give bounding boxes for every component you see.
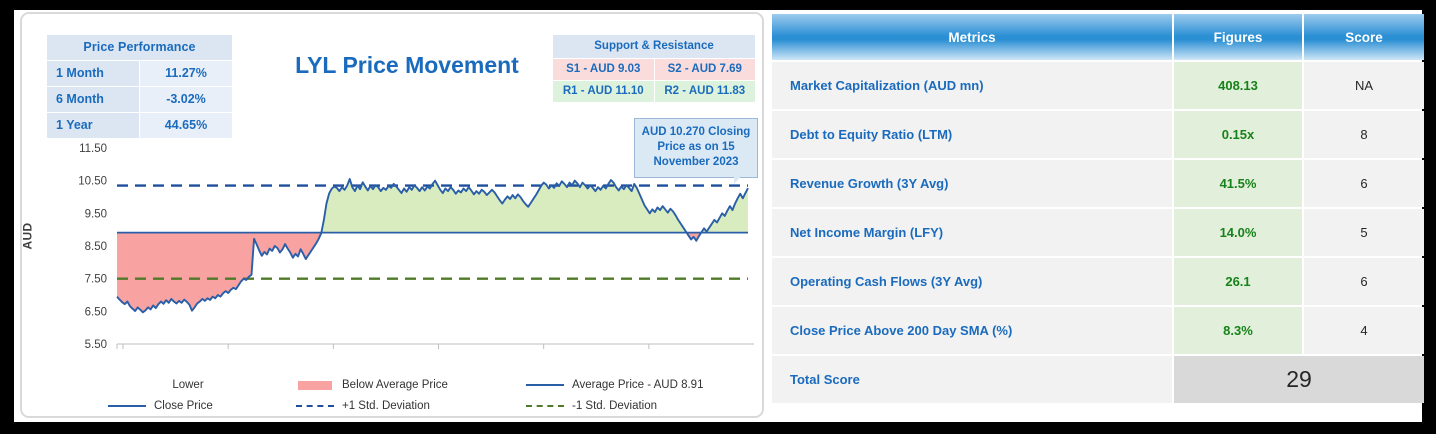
table-row: Revenue Growth (3Y Avg)41.5%6 (772, 160, 1424, 207)
y-tick-label: 9.50 (85, 208, 107, 220)
legend-item-close-price: Close Price (34, 400, 294, 412)
metric-figure-cell: 408.13 (1174, 62, 1302, 109)
metrics-table: Metrics Figures Score Market Capitalizat… (770, 12, 1426, 405)
resistance-row: R1 - AUD 11.10 R2 - AUD 11.83 (553, 81, 755, 102)
metric-score-cell: 6 (1304, 160, 1424, 207)
legend-marker-dash-blue (294, 400, 336, 412)
price-performance-row: 1 Year 44.65% (47, 113, 232, 138)
metric-figure-cell: 26.1 (1174, 258, 1302, 305)
screenshot-root: Price Performance 1 Month 11.27% 6 Month… (0, 0, 1436, 434)
legend-marker-line-blue (524, 379, 566, 391)
closing-price-callout: AUD 10.270 Closing Price as on 15 Novemb… (634, 118, 758, 178)
metric-figure-cell: 8.3% (1174, 307, 1302, 354)
y-tick-label: 6.50 (85, 306, 107, 318)
pp-label-1year: 1 Year (47, 113, 139, 138)
legend-label-plus-std-dev: +1 Std. Deviation (342, 400, 430, 412)
legend-item-average-price: Average Price - AUD 8.91 (524, 379, 703, 391)
metric-score-cell: 4 (1304, 307, 1424, 354)
support-resistance-header-row: Support & Resistance (553, 35, 755, 58)
metric-name-cell: Market Capitalization (AUD mn) (772, 62, 1172, 109)
legend-label-below-average-price: Below Average Price (342, 379, 448, 391)
metric-figure-cell: 0.15x (1174, 111, 1302, 158)
callout-tail-icon (734, 172, 745, 184)
price-performance-header: Price Performance (47, 35, 232, 60)
total-score-value: 29 (1174, 356, 1424, 403)
metric-score-cell: NA (1304, 62, 1424, 109)
metric-score-cell: 5 (1304, 209, 1424, 256)
legend-label-minus-std-dev: -1 Std. Deviation (572, 400, 657, 412)
legend-item-minus-std-dev: -1 Std. Deviation (524, 400, 657, 412)
legend-item-plus-std-dev: +1 Std. Deviation (294, 400, 524, 412)
legend-row-bottom: Close Price +1 Std. Deviation -1 Std. De… (34, 395, 752, 416)
metric-score-cell: 8 (1304, 111, 1424, 158)
legend-marker-dash-green (524, 400, 566, 412)
legend-label-close-price: Close Price (154, 400, 213, 412)
pp-value-1month: 11.27% (140, 61, 232, 86)
table-row: Operating Cash Flows (3Y Avg)26.16 (772, 258, 1424, 305)
pp-label-6month: 6 Month (47, 87, 139, 112)
column-header-figures[interactable]: Figures (1174, 14, 1302, 60)
metrics-table-head: Metrics Figures Score (772, 14, 1424, 60)
price-series-layer (117, 179, 748, 312)
legend-marker-none (124, 379, 166, 391)
pp-value-6month: -3.02% (140, 87, 232, 112)
y-tick-label: 7.50 (85, 274, 107, 286)
support-level-s1: S1 - AUD 9.03 (553, 59, 654, 80)
y-tick-label: 11.50 (79, 143, 107, 155)
y-tick-label: 5.50 (85, 339, 107, 351)
legend-marker-fill-red (294, 379, 336, 391)
metrics-header-row: Metrics Figures Score (772, 14, 1424, 60)
price-performance-row: 1 Month 11.27% (47, 61, 232, 86)
table-row: Close Price Above 200 Day SMA (%)8.3%4 (772, 307, 1424, 354)
legend-row-top: Lower Below Average Price Average Price … (34, 374, 752, 395)
table-row: Market Capitalization (AUD mn)408.13NA (772, 62, 1424, 109)
metric-score-cell: 6 (1304, 258, 1424, 305)
support-resistance-table: Support & Resistance S1 - AUD 9.03 S2 - … (552, 34, 756, 103)
resistance-level-r2: R2 - AUD 11.83 (655, 81, 756, 102)
support-level-s2: S2 - AUD 7.69 (655, 59, 756, 80)
metrics-table-body: Market Capitalization (AUD mn)408.13NADe… (772, 62, 1424, 403)
column-header-metrics[interactable]: Metrics (772, 14, 1172, 60)
y-tick-label: 8.50 (85, 241, 107, 253)
price-movement-panel: Price Performance 1 Month 11.27% 6 Month… (20, 12, 764, 418)
total-score-label: Total Score (772, 356, 1172, 403)
metric-name-cell: Operating Cash Flows (3Y Avg) (772, 258, 1172, 305)
price-performance-row: 6 Month -3.02% (47, 87, 232, 112)
resistance-level-r1: R1 - AUD 11.10 (553, 81, 654, 102)
metric-name-cell: Debt to Equity Ratio (LTM) (772, 111, 1172, 158)
legend-label-average-price: Average Price - AUD 8.91 (572, 379, 703, 391)
total-score-row: Total Score29 (772, 356, 1424, 403)
y-axis-tick-labels: 11.5010.509.508.507.506.505.50 (78, 143, 107, 351)
legend-marker-close-price (106, 400, 148, 412)
metric-name-cell: Close Price Above 200 Day SMA (%) (772, 307, 1172, 354)
column-header-score[interactable]: Score (1304, 14, 1424, 60)
metric-figure-cell: 41.5% (1174, 160, 1302, 207)
support-row: S1 - AUD 9.03 S2 - AUD 7.69 (553, 59, 755, 80)
pp-value-1year: 44.65% (140, 113, 232, 138)
metric-name-cell: Revenue Growth (3Y Avg) (772, 160, 1172, 207)
legend-label-lower: Lower (172, 379, 203, 391)
y-tick-label: 10.50 (78, 176, 107, 188)
metrics-scorecard-panel: Metrics Figures Score Market Capitalizat… (770, 12, 1418, 418)
dashboard-canvas: Price Performance 1 Month 11.27% 6 Month… (14, 10, 1422, 422)
chart-legend: Lower Below Average Price Average Price … (34, 374, 752, 416)
table-row: Net Income Margin (LFY)14.0%5 (772, 209, 1424, 256)
chart-title: LYL Price Movement (262, 52, 552, 79)
table-row: Debt to Equity Ratio (LTM)0.15x8 (772, 111, 1424, 158)
pp-label-1month: 1 Month (47, 61, 139, 86)
metric-name-cell: Net Income Margin (LFY) (772, 209, 1172, 256)
metric-figure-cell: 14.0% (1174, 209, 1302, 256)
legend-item-below-average-price: Below Average Price (294, 379, 524, 391)
price-performance-table: Price Performance 1 Month 11.27% 6 Month… (46, 34, 233, 139)
price-performance-header-row: Price Performance (47, 35, 232, 60)
support-resistance-header: Support & Resistance (553, 35, 755, 58)
axis-lines (117, 344, 754, 349)
legend-item-lower: Lower (34, 379, 294, 391)
